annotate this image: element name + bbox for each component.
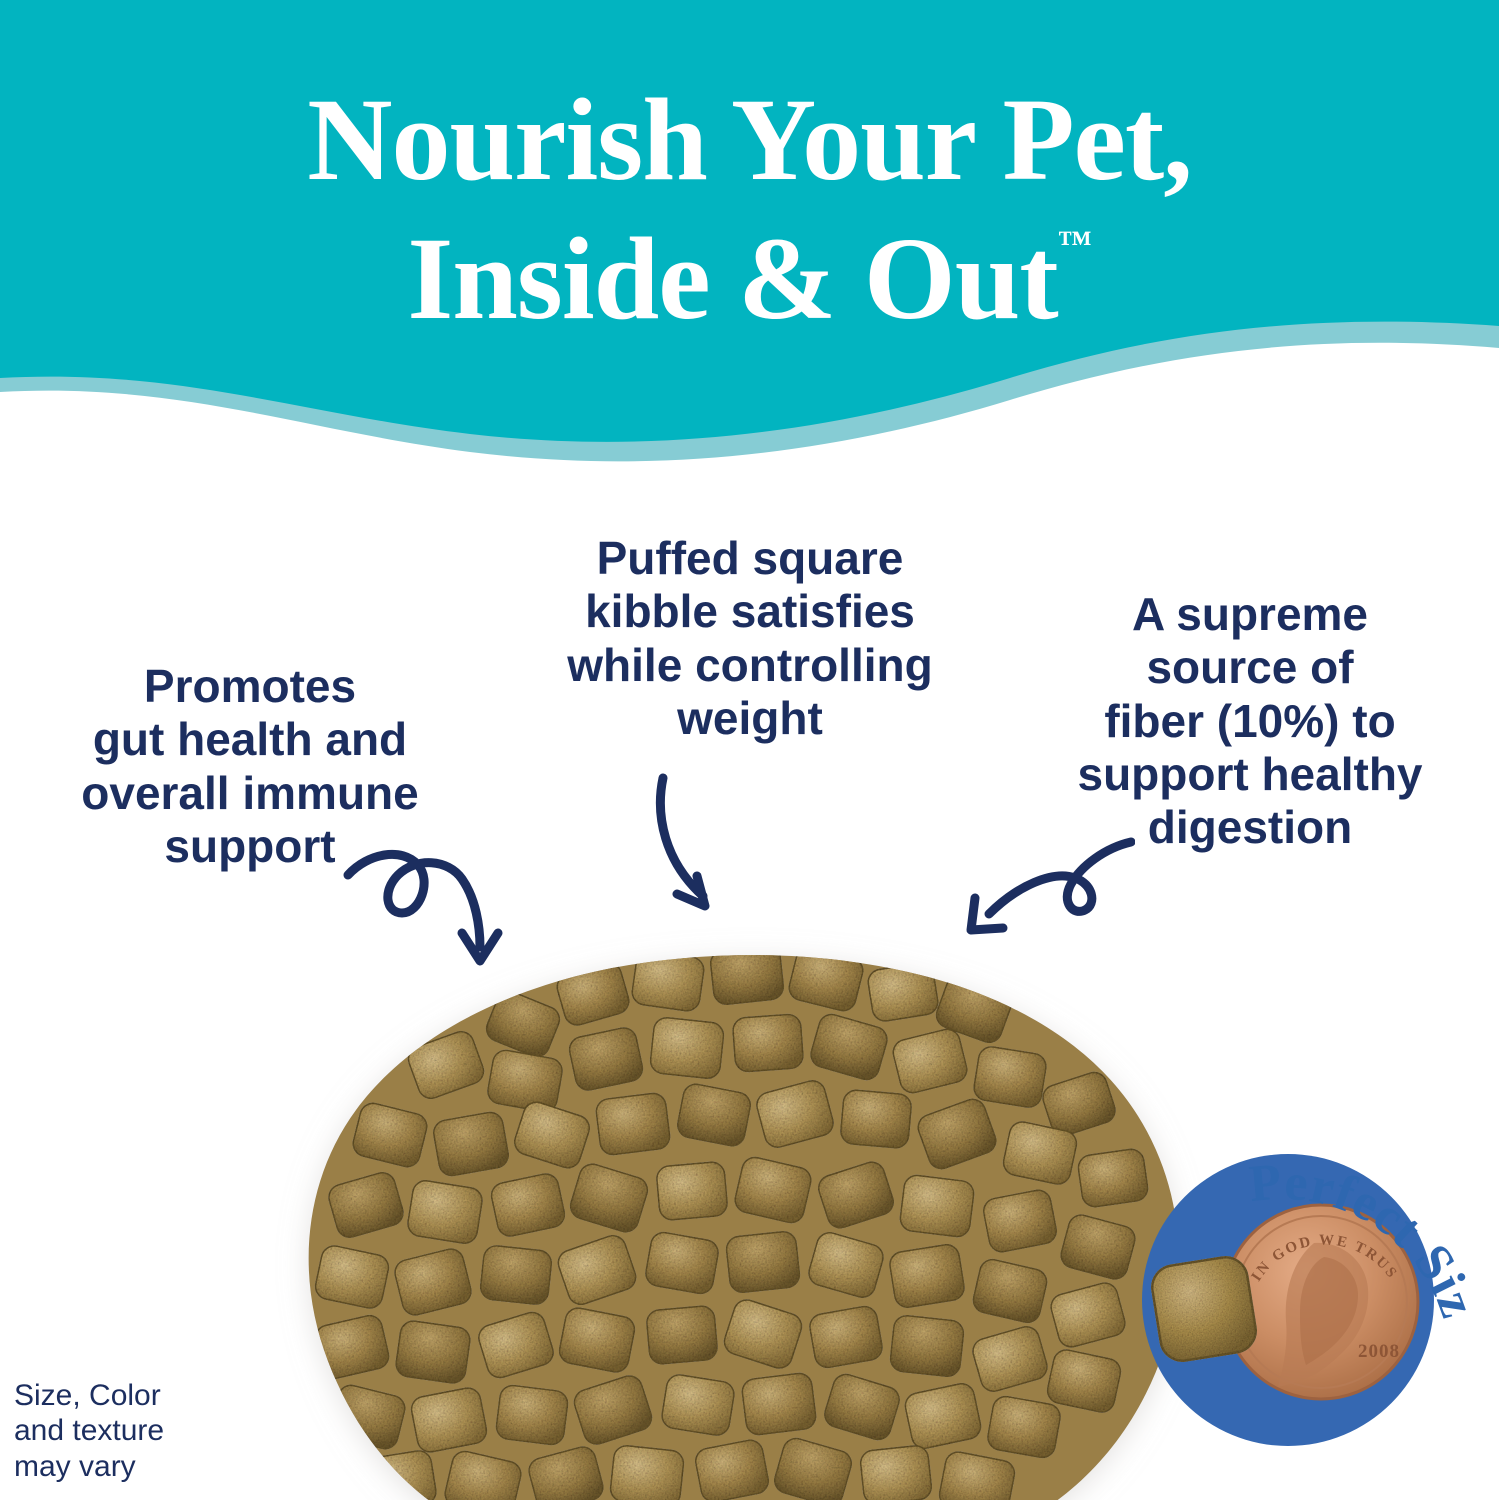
- callout-left-line-4: support: [10, 820, 490, 873]
- perfect-size-badge-graphic: IN GOD WE TRUST 2008 Perfect Size!: [1128, 1085, 1499, 1455]
- penny-year-text: 2008: [1358, 1341, 1400, 1362]
- curved-arrow-down-icon: [645, 770, 775, 930]
- callout-fiber-digestion: A supreme source of fiber (10%) to suppo…: [1010, 588, 1490, 855]
- kibble-pile-graphic: [160, 920, 1280, 1500]
- kibble-pile-photo: [160, 920, 1280, 1500]
- callout-right-line-5: digestion: [1010, 801, 1490, 854]
- kibble-mound: [309, 944, 1179, 1500]
- perfect-size-badge: IN GOD WE TRUST 2008 Perfect Size!: [1128, 1085, 1499, 1455]
- callout-left-line-2: gut health and: [10, 713, 490, 766]
- disclaimer-text: Size, Color and texture may vary: [14, 1378, 264, 1484]
- callout-center-line-1: Puffed square: [500, 532, 1000, 585]
- callout-right-line-4: support healthy: [1010, 748, 1490, 801]
- callout-left-line-1: Promotes: [10, 660, 490, 713]
- callout-center-line-3: while controlling: [500, 639, 1000, 692]
- callout-center-line-4: weight: [500, 692, 1000, 745]
- disclaimer-line-2: and texture: [14, 1413, 264, 1448]
- badge-kibble-piece: [1149, 1254, 1259, 1364]
- callout-puffed-kibble: Puffed square kibble satisfies while con…: [500, 532, 1000, 745]
- callout-right-line-2: source of: [1010, 641, 1490, 694]
- disclaimer-line-3: may vary: [14, 1449, 264, 1484]
- callout-left-line-3: overall immune: [10, 767, 490, 820]
- header-banner: Nourish Your Pet, Inside & Out™: [0, 0, 1499, 500]
- wave-teal-shape: [0, 0, 1499, 442]
- disclaimer-line-1: Size, Color: [14, 1378, 264, 1413]
- callout-center-line-2: kibble satisfies: [500, 585, 1000, 638]
- callout-right-line-3: fiber (10%) to: [1010, 695, 1490, 748]
- callout-right-line-1: A supreme: [1010, 588, 1490, 641]
- callout-gut-health: Promotes gut health and overall immune s…: [10, 660, 490, 873]
- product-feature-image: Nourish Your Pet, Inside & Out™: [0, 0, 1499, 1500]
- header-wave-graphic: [0, 0, 1499, 500]
